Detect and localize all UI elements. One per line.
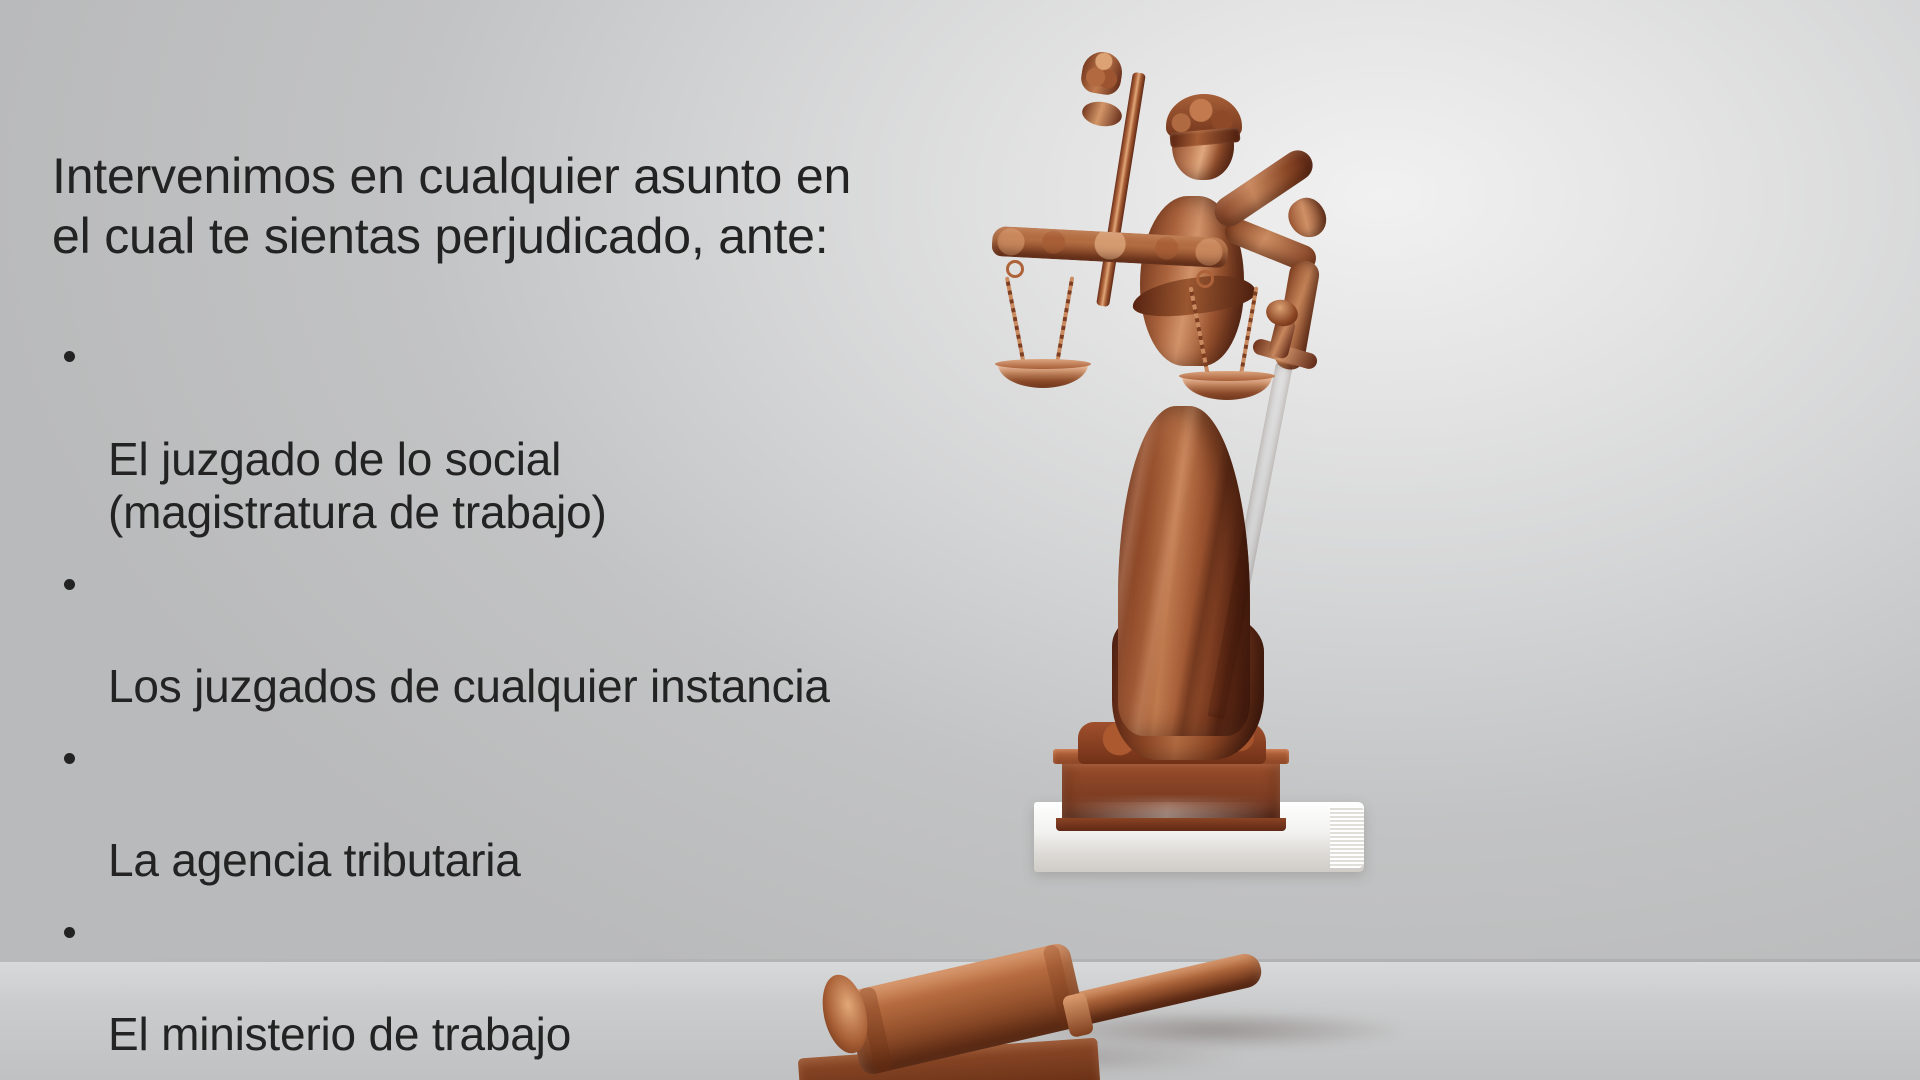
scale-finial-icon	[1079, 49, 1125, 97]
gavel	[840, 932, 1270, 1080]
list-item-label: El juzgado de lo social (magistratura de…	[108, 433, 607, 538]
list-item-label: El ministerio de trabajo	[108, 1008, 571, 1060]
scale-pan-right	[1182, 376, 1272, 400]
statue-pedestal	[1062, 760, 1280, 822]
book-pages	[1330, 806, 1364, 868]
bullet-dot-icon	[64, 351, 75, 362]
list-item: Los juzgados de cualquier instancia	[52, 553, 1082, 713]
scale-pan-left	[998, 364, 1088, 388]
list-item: El juzgado de lo social (magistratura de…	[52, 326, 1082, 539]
hand-gripping-scale	[1281, 191, 1333, 244]
bullet-dot-icon	[64, 927, 75, 938]
list-item: La agencia tributaria	[52, 728, 1082, 888]
list-item-label: Los juzgados de cualquier instancia	[108, 660, 830, 712]
headline: Intervenimos en cualquier asunto en el c…	[52, 146, 1082, 266]
list-item-label: La agencia tributaria	[108, 834, 521, 886]
scale-ring-left	[1006, 260, 1024, 278]
scale-ring-right	[1196, 270, 1214, 288]
lady-justice-statue	[1000, 46, 1420, 856]
scale-chain	[1005, 277, 1027, 372]
scale-chain	[1054, 276, 1075, 371]
legal-services-banner: Intervenimos en cualquier asunto en el c…	[0, 0, 1920, 1080]
bullet-dot-icon	[64, 753, 75, 764]
bullet-dot-icon	[64, 579, 75, 590]
scale-upper-knob	[1080, 99, 1123, 129]
